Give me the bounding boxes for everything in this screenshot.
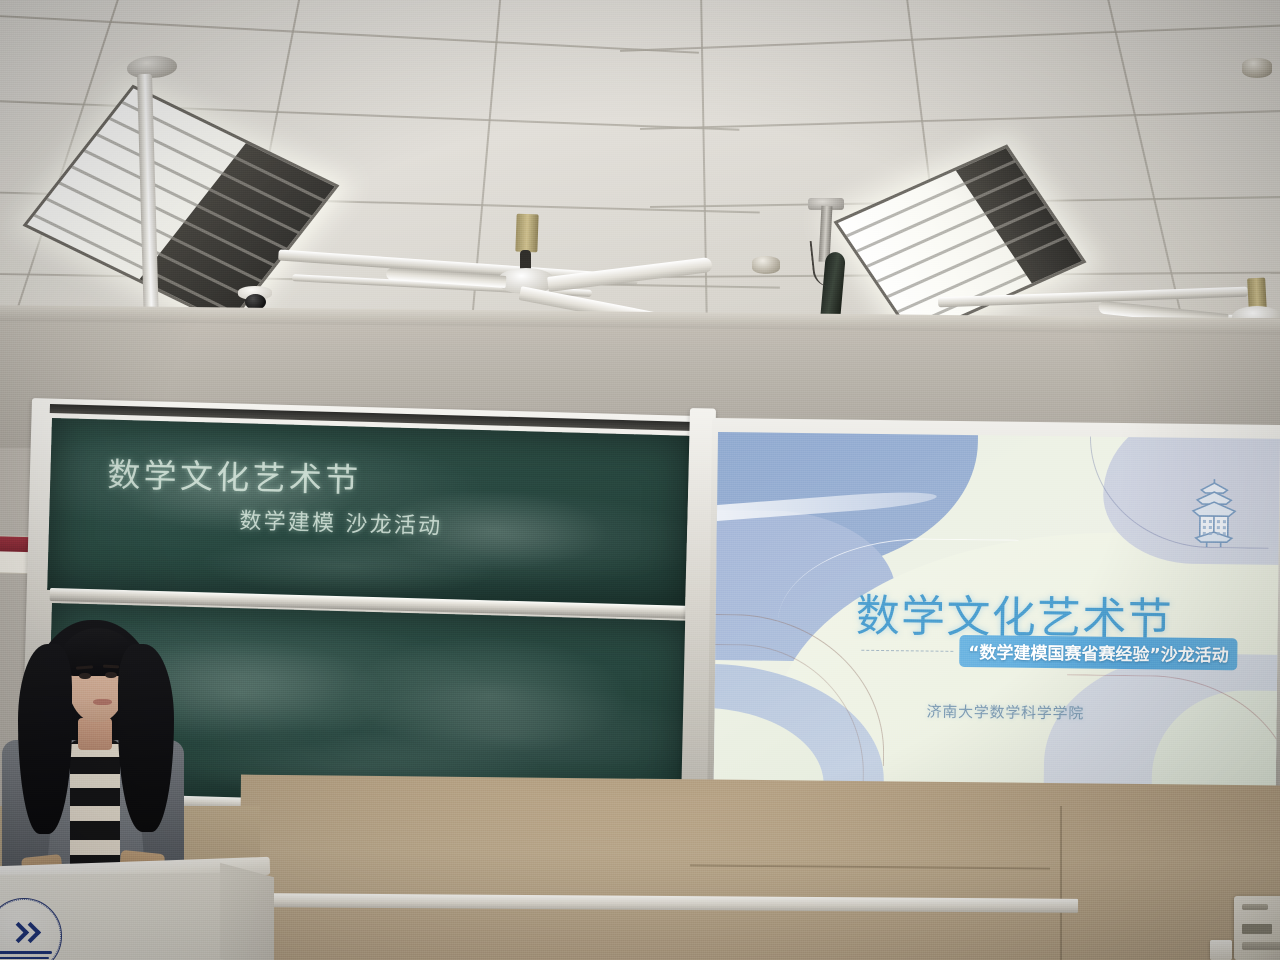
classroom-photo: 数学文化艺术节 数学建模 沙龙活动 <box>0 0 1280 960</box>
presenter-eye <box>105 672 117 678</box>
presenter <box>0 600 230 900</box>
presenter-hair-left <box>18 644 72 834</box>
podium-side <box>220 863 274 960</box>
lower-wall-right <box>239 775 1280 960</box>
presenter-mouth <box>93 699 112 705</box>
presenter-hair-right <box>118 644 174 832</box>
slide-subtitle: “数学建模国赛省赛经验”沙龙活动 <box>959 635 1238 670</box>
wall-control-panel[interactable] <box>1234 896 1280 960</box>
slide-subtitle-dashes <box>861 649 953 651</box>
slide-organization: 济南大学数学科学学院 <box>926 701 1084 724</box>
pagoda-tower-logo <box>1183 476 1246 551</box>
blackboard-text-line2: 数学建模 沙龙活动 <box>239 503 443 541</box>
wall-seam <box>1060 806 1062 960</box>
projection-screen[interactable]: 数学文化艺术节 “数学建模国赛省赛经验”沙龙活动 济南大学数学科学学院 <box>714 432 1280 787</box>
presenter-eye <box>79 673 91 679</box>
blackboard-text-line1: 数学文化艺术节 <box>107 448 362 502</box>
podium <box>0 862 300 960</box>
wall-light-switch[interactable] <box>1210 940 1232 960</box>
presenter-neck <box>78 718 112 750</box>
